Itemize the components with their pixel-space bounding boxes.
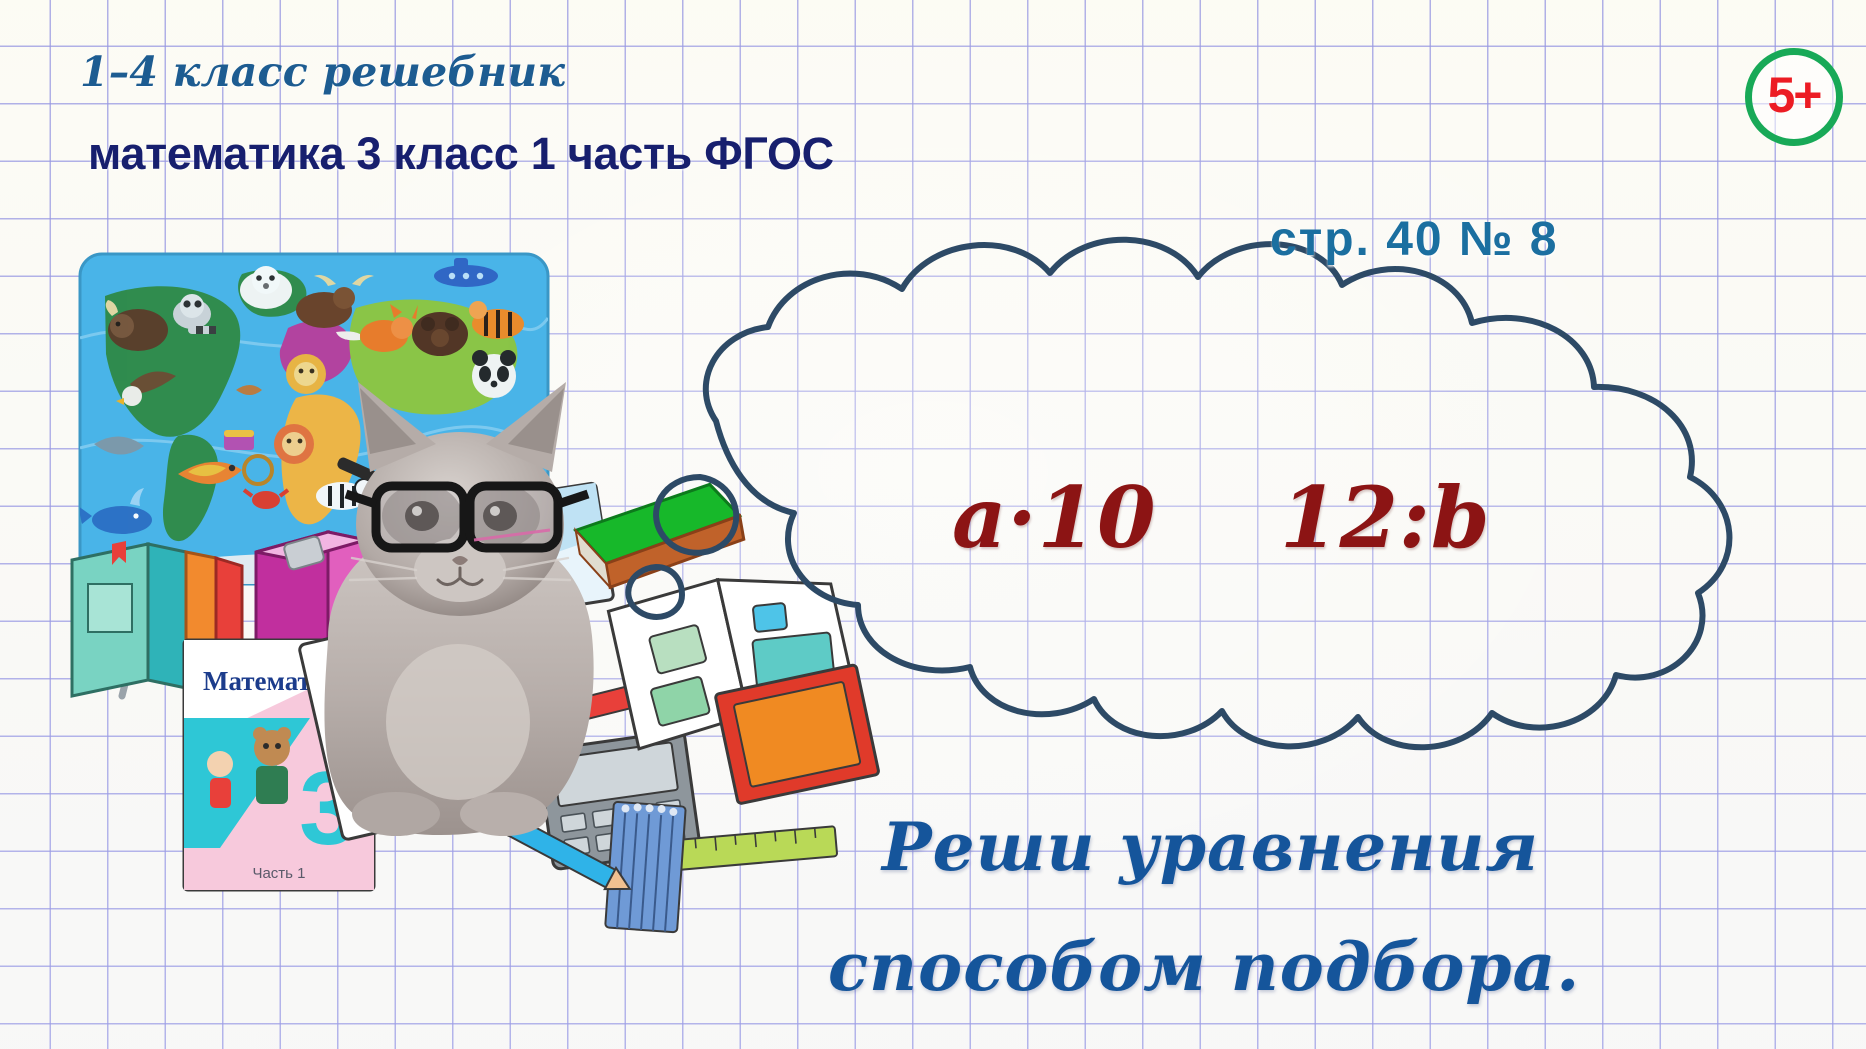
animal-lion-africa	[274, 424, 314, 464]
pencils-bundle	[605, 802, 686, 933]
instruction-line-1: Реши уравнения	[882, 808, 1539, 886]
page-subtitle-script: 1–4 класс решебник	[80, 48, 565, 96]
illustration-cluster: Математика 3 Часть 1	[60, 248, 880, 948]
page-title: математика 3 класс 1 часть ФГОС	[88, 128, 834, 180]
equation-1: a·10	[952, 468, 1157, 567]
svg-text:Часть 1: Часть 1	[252, 865, 305, 882]
book-teal	[72, 541, 186, 696]
page-reference: стр. 40 № 8	[1270, 212, 1558, 267]
treasure-chest	[224, 430, 254, 450]
age-rating-label: 5+	[1767, 70, 1820, 120]
age-rating-badge: 5+	[1745, 48, 1843, 146]
animal-brown-bear	[412, 312, 468, 356]
animal-lion-asia	[286, 354, 326, 394]
equation-2: 12:b	[1280, 468, 1491, 567]
eyeglasses	[346, 486, 588, 548]
instruction-line-2: способом подбора.	[828, 928, 1580, 1006]
animal-panda	[472, 350, 516, 398]
poster-canvas: Математика 3 Часть 1	[0, 0, 1866, 1049]
